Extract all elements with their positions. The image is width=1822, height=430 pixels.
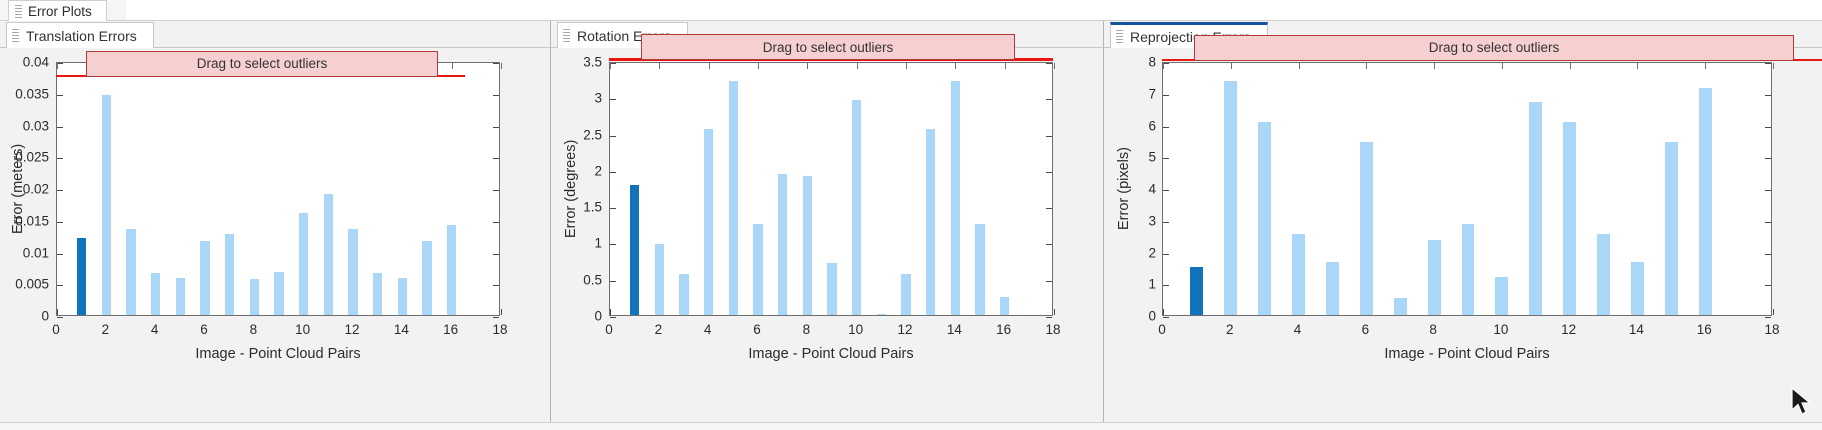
y-tick-mark [610,99,616,100]
plot-area[interactable] [610,63,1052,315]
bar[interactable] [803,176,812,315]
bar[interactable] [975,224,984,315]
x-tick-label: 6 [200,322,208,337]
x-tick-mark-top [1299,63,1300,69]
x-tick-mark-top [906,63,907,69]
x-tick-label: 0 [52,322,60,337]
y-tick-mark [1163,127,1169,128]
y-tick-mark [1163,317,1169,318]
bar[interactable] [1428,240,1441,315]
y-tick-mark [1765,285,1771,286]
y-tick-label: 3.5 [552,55,602,70]
bar[interactable] [729,81,738,315]
y-tick-mark [1765,95,1771,96]
panel-reprojection-errors: Reprojection Errors Error (pixels) Image… [1104,21,1822,430]
bar[interactable] [852,100,861,315]
y-tick-mark [1163,158,1169,159]
y-tick-mark [1163,222,1169,223]
y-tick-label: 2.5 [552,127,602,142]
bar[interactable] [1190,267,1203,315]
x-tick-mark-top [1637,63,1638,69]
tab-translation-errors[interactable]: Translation Errors [6,22,154,48]
x-tick-label: 18 [1764,322,1779,337]
y-tick-mark [1765,254,1771,255]
bar[interactable] [176,278,185,315]
x-tick-mark [501,309,502,315]
bar[interactable] [151,273,160,315]
y-tick-mark [1046,136,1052,137]
x-tick-mark-top [1231,63,1232,69]
x-tick-mark-top [1705,63,1706,69]
bar[interactable] [250,279,259,315]
bar[interactable] [1000,297,1009,315]
y-tick-mark [1046,244,1052,245]
bar[interactable] [926,129,935,315]
bar[interactable] [753,224,762,315]
drag-grip-icon[interactable] [15,5,22,18]
y-tick-mark [493,158,499,159]
x-tick-label: 16 [443,322,458,337]
bar[interactable] [225,234,234,315]
y-tick-label: 0.5 [552,272,602,287]
bar[interactable] [1699,88,1712,315]
drag-hint-label: Drag to select outliers [1429,40,1560,55]
document-tabstrip-filler [126,0,1822,21]
status-bar [0,422,1822,430]
x-tick-label: 14 [1629,322,1644,337]
y-tick-mark [57,254,63,255]
x-tick-label: 2 [1226,322,1234,337]
y-tick-label: 5 [1106,150,1156,165]
figure-reprojection-errors: Error (pixels) Image - Point Cloud Pairs… [1104,48,1822,430]
x-tick-mark-top [758,63,759,69]
axes-reprojection-errors[interactable] [1162,62,1772,316]
x-tick-label: 12 [344,322,359,337]
panel-tabstrip-1: Translation Errors [0,21,550,48]
bar[interactable] [200,241,209,315]
bar[interactable] [679,274,688,315]
x-tick-label: 4 [151,322,159,337]
x-tick-mark [610,309,611,315]
y-tick-mark [493,254,499,255]
bar[interactable] [1326,262,1339,315]
y-tick-mark [57,285,63,286]
bar[interactable] [447,225,456,315]
y-tick-mark [610,281,616,282]
x-tick-mark-top [1163,63,1164,69]
bar[interactable] [951,81,960,315]
y-tick-mark [57,317,63,318]
y-tick-label: 0 [552,309,602,324]
x-tick-label: 6 [753,322,761,337]
x-tick-mark-top [501,63,502,69]
x-tick-label: 8 [803,322,811,337]
bar[interactable] [324,194,333,315]
drag-hint-label: Drag to select outliers [197,56,328,71]
bar[interactable] [1529,102,1542,315]
x-tick-label: 18 [1045,322,1060,337]
y-tick-label: 1.5 [552,200,602,215]
y-tick-label: 0.015 [1,213,49,228]
y-tick-mark [610,244,616,245]
x-tick-mark-top [1570,63,1571,69]
x-tick-label: 8 [250,322,258,337]
y-tick-mark [1046,172,1052,173]
x-tick-label: 14 [947,322,962,337]
x-tick-label: 10 [848,322,863,337]
x-tick-label: 12 [897,322,912,337]
x-tick-mark-top [1502,63,1503,69]
x-tick-label: 4 [1294,322,1302,337]
y-tick-mark [1046,99,1052,100]
bar[interactable] [877,314,886,315]
y-tick-mark [610,317,616,318]
x-tick-label: 14 [394,322,409,337]
x-tick-mark-top [1773,63,1774,69]
axes-rotation-errors[interactable] [609,62,1053,316]
y-tick-mark [1163,190,1169,191]
x-axis-label: Image - Point Cloud Pairs [609,346,1053,362]
y-tick-label: 0.04 [1,55,49,70]
y-tick-mark [1163,285,1169,286]
x-tick-label: 10 [295,322,310,337]
y-tick-mark [610,208,616,209]
bar[interactable] [1563,122,1576,315]
x-tick-mark-top [57,63,58,69]
bar[interactable] [274,272,283,315]
y-tick-label: 0.025 [1,150,49,165]
y-tick-label: 2 [1106,245,1156,260]
y-tick-mark [1163,95,1169,96]
y-tick-mark [57,127,63,128]
x-tick-label: 16 [996,322,1011,337]
bar[interactable] [704,129,713,315]
y-tick-mark [493,95,499,96]
y-tick-mark [1046,281,1052,282]
x-tick-label: 0 [605,322,613,337]
x-tick-mark [1163,309,1164,315]
x-tick-mark [57,309,58,315]
bar[interactable] [102,95,111,315]
panel-translation-errors: Translation Errors Error (meters) Image … [0,21,551,430]
x-tick-label: 4 [704,322,712,337]
bar[interactable] [1597,234,1610,315]
document-tab-error-plots[interactable]: Error Plots [8,0,107,21]
y-tick-label: 3 [1106,213,1156,228]
drag-to-select-outliers-band[interactable]: Drag to select outliers [641,34,1015,60]
document-tab-label: Error Plots [26,4,92,19]
x-tick-mark-top [1366,63,1367,69]
bar[interactable] [1665,142,1678,315]
y-tick-mark [493,127,499,128]
bar[interactable] [655,244,664,315]
drag-grip-icon[interactable] [12,29,19,42]
bar[interactable] [422,241,431,315]
y-tick-label: 1 [552,236,602,251]
drag-grip-icon[interactable] [1116,30,1123,43]
x-tick-mark-top [807,63,808,69]
y-tick-mark [610,136,616,137]
bar[interactable] [348,229,357,315]
y-tick-label: 8 [1106,55,1156,70]
x-axis-label: Image - Point Cloud Pairs [56,346,500,362]
y-tick-mark [1765,190,1771,191]
x-tick-label: 8 [1429,322,1437,337]
panel-rotation-errors: Rotation Errors Error (degrees) Image - … [551,21,1104,430]
y-tick-mark [1046,208,1052,209]
x-tick-label: 6 [1362,322,1370,337]
bar[interactable] [299,213,308,315]
bar[interactable] [778,174,787,316]
bar[interactable] [77,238,86,315]
x-tick-label: 2 [102,322,110,337]
bar[interactable] [630,185,639,315]
y-tick-mark [1765,222,1771,223]
x-tick-mark-top [1005,63,1006,69]
y-tick-mark [610,172,616,173]
y-tick-mark [493,317,499,318]
y-tick-label: 3 [552,91,602,106]
plot-area[interactable] [57,63,499,315]
y-tick-label: 0 [1106,309,1156,324]
x-tick-mark-top [610,63,611,69]
y-tick-mark [57,158,63,159]
y-tick-label: 0.02 [1,182,49,197]
bar[interactable] [126,229,135,315]
x-tick-mark-top [955,63,956,69]
x-tick-mark-top [1054,63,1055,69]
drag-grip-icon[interactable] [563,29,570,42]
bar[interactable] [1224,81,1237,315]
y-tick-label: 1 [1106,277,1156,292]
y-tick-mark [57,222,63,223]
y-tick-mark [493,285,499,286]
x-tick-mark-top [709,63,710,69]
x-tick-mark [1773,309,1774,315]
y-tick-label: 0.035 [1,86,49,101]
plot-panels-container: Translation Errors Error (meters) Image … [0,21,1822,430]
x-tick-mark-top [1434,63,1435,69]
y-tick-mark [1765,317,1771,318]
y-tick-mark [1765,158,1771,159]
y-tick-mark [493,190,499,191]
y-tick-label: 6 [1106,118,1156,133]
bar[interactable] [1495,277,1508,315]
y-tick-mark [57,95,63,96]
x-tick-label: 10 [1493,322,1508,337]
drag-to-select-outliers-band[interactable]: Drag to select outliers [86,51,438,77]
bar[interactable] [1462,224,1475,315]
y-tick-mark [1765,63,1771,64]
x-axis-label: Image - Point Cloud Pairs [1162,346,1772,362]
x-tick-label: 18 [492,322,507,337]
axes-translation-errors[interactable] [56,62,500,316]
x-tick-label: 2 [655,322,663,337]
y-tick-mark [1046,317,1052,318]
y-tick-mark [493,222,499,223]
x-tick-label: 16 [1697,322,1712,337]
y-tick-mark [57,190,63,191]
y-tick-label: 7 [1106,86,1156,101]
bar[interactable] [373,273,382,315]
figure-translation-errors: Error (meters) Image - Point Cloud Pairs… [0,48,550,430]
document-tabstrip: Error Plots [0,0,1822,21]
x-tick-label: 12 [1561,322,1576,337]
x-tick-mark-top [857,63,858,69]
bar[interactable] [901,274,910,315]
y-tick-label: 0.03 [1,118,49,133]
y-tick-mark [1046,63,1052,64]
bar[interactable] [398,278,407,315]
bar[interactable] [1258,122,1271,315]
bar[interactable] [1394,298,1407,315]
drag-hint-label: Drag to select outliers [763,40,894,55]
y-tick-label: 2 [552,163,602,178]
y-tick-label: 4 [1106,182,1156,197]
y-tick-label: 0.01 [1,245,49,260]
error-plots-window: Error Plots Translation Errors Error (me… [0,0,1822,430]
x-tick-mark-top [452,63,453,69]
y-tick-mark [1163,254,1169,255]
tab-label: Translation Errors [23,28,137,44]
bar[interactable] [827,263,836,315]
bar[interactable] [1360,142,1373,315]
y-tick-mark [493,63,499,64]
y-tick-mark [1765,127,1771,128]
y-tick-label: 0 [1,309,49,324]
plot-area[interactable] [1163,63,1771,315]
x-tick-mark [1054,309,1055,315]
drag-to-select-outliers-band[interactable]: Drag to select outliers [1194,35,1794,61]
x-tick-label: 0 [1158,322,1166,337]
bar[interactable] [1292,234,1305,315]
figure-rotation-errors: Error (degrees) Image - Point Cloud Pair… [551,48,1103,430]
bar[interactable] [1631,262,1644,315]
y-tick-label: 0.005 [1,277,49,292]
x-tick-mark-top [659,63,660,69]
